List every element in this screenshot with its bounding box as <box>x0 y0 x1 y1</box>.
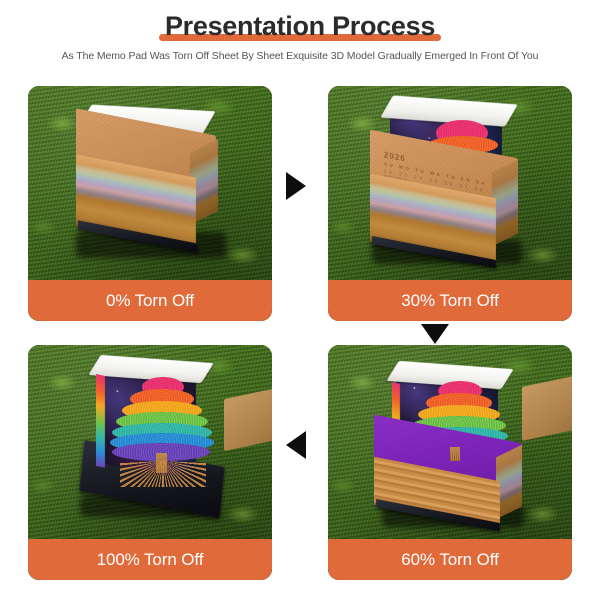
page-title-wrap: Presentation Process <box>159 12 441 41</box>
rainbow-spine <box>96 374 105 468</box>
arrow-right-icon <box>286 172 306 200</box>
panel-caption: 30% Torn Off <box>328 280 572 321</box>
arrow-left-icon <box>286 431 306 459</box>
page-header: Presentation Process As The Memo Pad Was… <box>0 0 600 62</box>
tree-trunk <box>450 447 460 461</box>
panel-0-percent[interactable]: 0% Torn Off <box>28 86 272 321</box>
page-subtitle: As The Memo Pad Was Torn Off Sheet By Sh… <box>0 50 600 62</box>
panel-caption: 0% Torn Off <box>28 280 272 321</box>
panel-caption: 60% Torn Off <box>328 539 572 580</box>
panel-caption: 100% Torn Off <box>28 539 272 580</box>
memo-pad-sculpture <box>64 349 236 529</box>
panel-60-percent[interactable]: 60% Torn Off <box>328 345 572 580</box>
page-title: Presentation Process <box>165 12 435 41</box>
panel-grid: 0% Torn Off 2026 SU MO TU WE TH FR SA 22… <box>0 86 600 600</box>
panel-100-percent[interactable]: 100% Torn Off <box>28 345 272 580</box>
memo-pad-block <box>364 355 540 535</box>
arrow-down-icon <box>421 324 449 344</box>
memo-pad-block <box>70 104 230 264</box>
memo-pad-block: 2026 SU MO TU WE TH FR SA 22 23 24 25 26… <box>364 100 536 272</box>
tree-roots <box>120 461 206 487</box>
panel-30-percent[interactable]: 2026 SU MO TU WE TH FR SA 22 23 24 25 26… <box>328 86 572 321</box>
